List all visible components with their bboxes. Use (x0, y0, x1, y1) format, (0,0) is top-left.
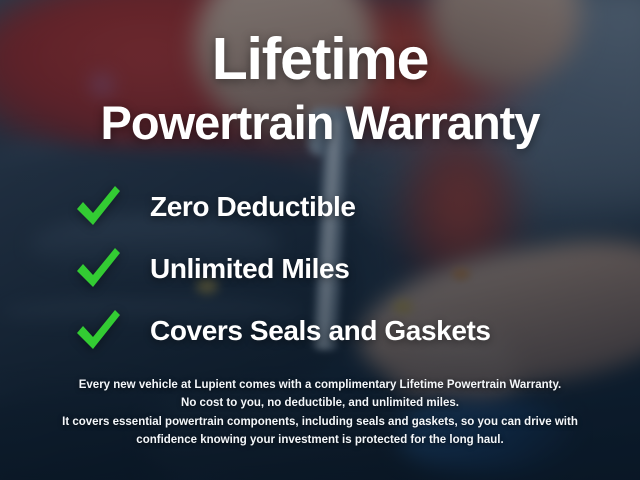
headline-line-1: Lifetime (0, 30, 640, 89)
banner-content: Lifetime Powertrain Warranty Zero Deduct… (0, 0, 640, 480)
disclaimer-line: No cost to you, no deductible, and unlim… (24, 394, 616, 413)
disclaimer-line: It covers essential powertrain component… (24, 413, 616, 432)
page-title: Lifetime Powertrain Warranty (0, 30, 640, 146)
list-item: Zero Deductible (0, 176, 640, 238)
benefit-label: Zero Deductible (150, 191, 356, 223)
list-item: Covers Seals and Gaskets (0, 300, 640, 362)
benefit-label: Covers Seals and Gaskets (150, 315, 491, 347)
list-item: Unlimited Miles (0, 238, 640, 300)
disclaimer-line: confidence knowing your investment is pr… (24, 431, 616, 450)
disclaimer-line: Every new vehicle at Lupient comes with … (24, 376, 616, 395)
check-icon (74, 309, 122, 353)
disclaimer-text: Every new vehicle at Lupient comes with … (24, 376, 616, 451)
benefit-label: Unlimited Miles (150, 253, 349, 285)
warranty-banner: Lifetime Powertrain Warranty Zero Deduct… (0, 0, 640, 480)
check-icon (74, 185, 122, 229)
check-icon (74, 247, 122, 291)
headline-line-2: Powertrain Warranty (0, 99, 640, 146)
benefits-list: Zero Deductible Unlimited Miles Covers S… (0, 176, 640, 362)
